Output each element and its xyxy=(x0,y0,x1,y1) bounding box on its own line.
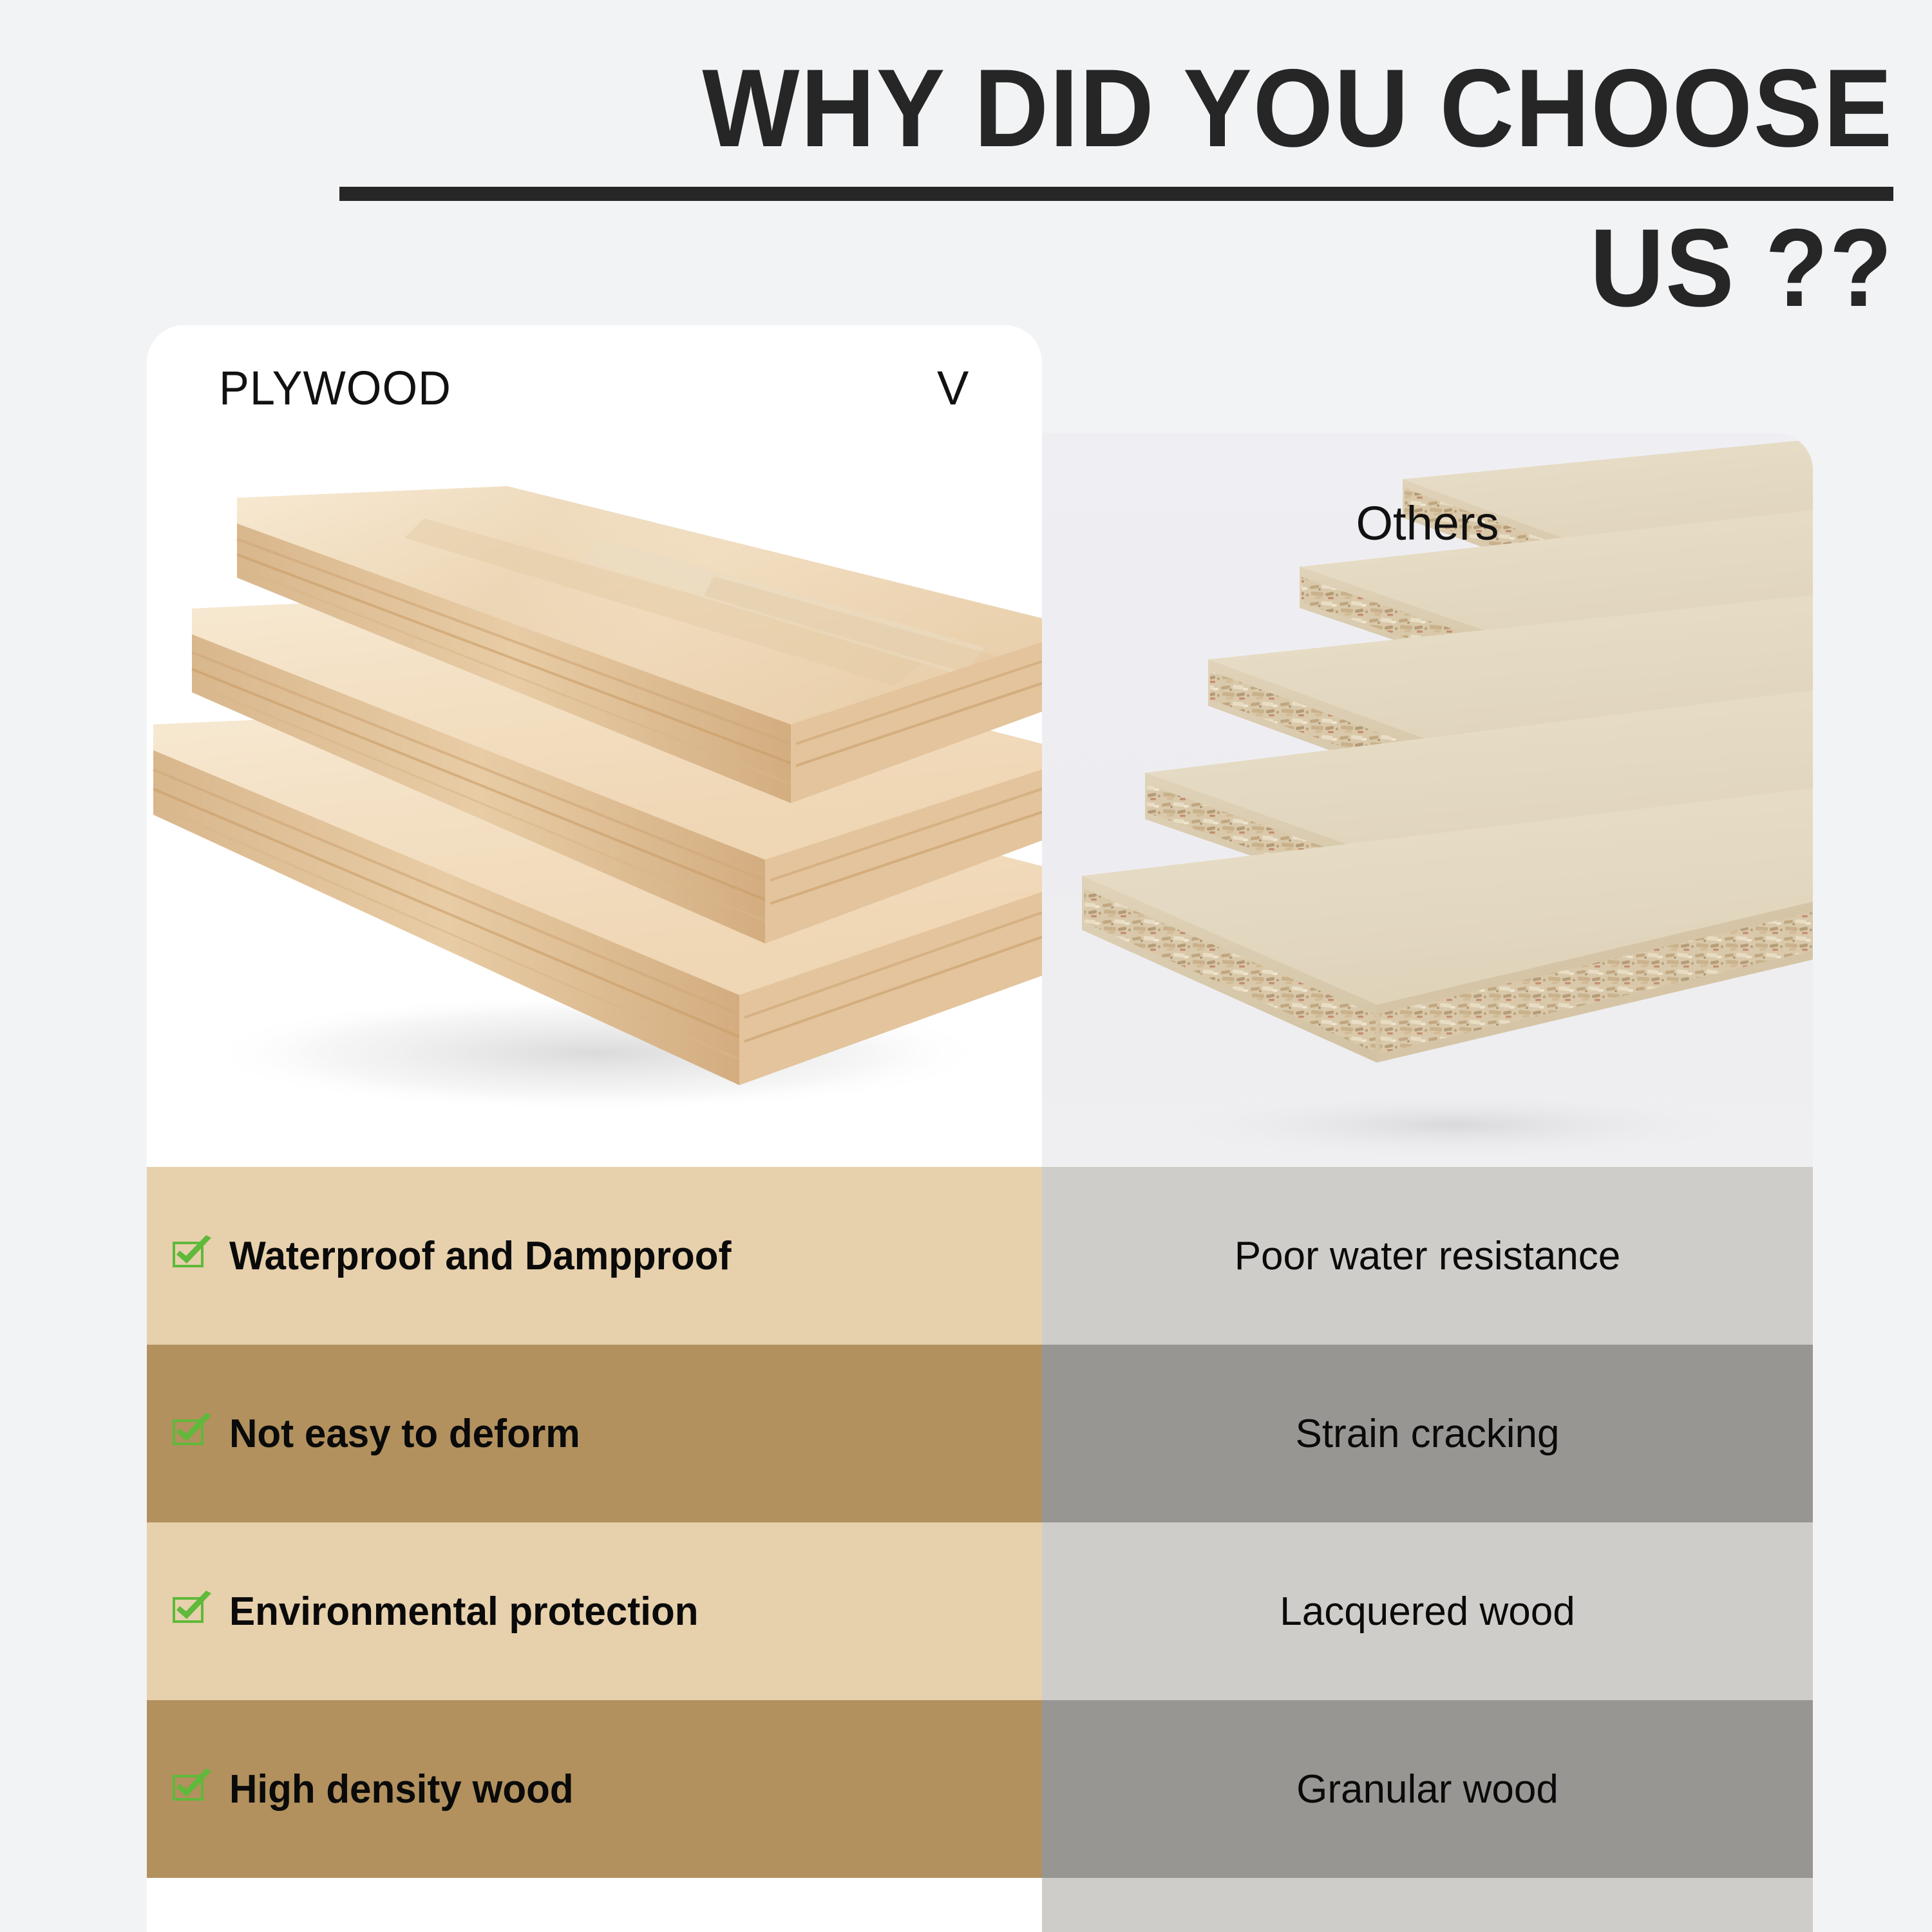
feature-cell: Environmental protection xyxy=(147,1522,1042,1700)
other-label: Granular wood xyxy=(1296,1766,1558,1812)
table-row: Environmental protection Lacquered wood xyxy=(147,1522,1813,1700)
feature-cell: High density wood xyxy=(147,1700,1042,1878)
comparison-table: Waterproof and Dampproof Poor water resi… xyxy=(147,1167,1813,1932)
plywood-panel xyxy=(147,325,1042,1167)
other-cell: Granular wood xyxy=(1042,1700,1813,1878)
other-label: Poor water resistance xyxy=(1235,1233,1621,1279)
column-label-plywood: PLYWOOD xyxy=(219,361,451,415)
feature-label: Environmental protection xyxy=(229,1589,698,1634)
check-box-icon xyxy=(171,1767,213,1808)
feature-label: High density wood xyxy=(229,1766,574,1812)
header-title-block: WHY DID YOU CHOOSE US ?? xyxy=(0,0,1932,325)
feature-cell: Waterproof and Dampproof xyxy=(147,1167,1042,1345)
feature-cell: Not easy to deform xyxy=(147,1345,1042,1522)
title-underline-rule xyxy=(339,187,1893,201)
versus-label: V xyxy=(937,361,969,415)
feature-label: Waterproof and Dampproof xyxy=(229,1233,732,1279)
footer-strip-left xyxy=(147,1878,1042,1932)
feature-label: Not easy to deform xyxy=(229,1411,580,1457)
other-label: Strain cracking xyxy=(1295,1411,1559,1457)
table-row: Waterproof and Dampproof Poor water resi… xyxy=(147,1167,1813,1345)
other-cell: Lacquered wood xyxy=(1042,1522,1813,1700)
check-box-icon xyxy=(171,1412,213,1453)
page-title-line-2: US ?? xyxy=(133,213,1893,323)
check-box-icon xyxy=(171,1589,213,1631)
footer-strip-right xyxy=(1042,1878,1813,1932)
table-row: Not easy to deform Strain cracking xyxy=(147,1345,1813,1522)
plywood-stack-image xyxy=(147,325,1042,1167)
other-label: Lacquered wood xyxy=(1280,1589,1575,1634)
other-cell: Strain cracking xyxy=(1042,1345,1813,1522)
other-cell: Poor water resistance xyxy=(1042,1167,1813,1345)
page-title-line-1: WHY DID YOU CHOOSE xyxy=(133,53,1893,164)
check-box-icon xyxy=(171,1234,213,1275)
column-label-others: Others xyxy=(1042,496,1813,551)
table-row: High density wood Granular wood xyxy=(147,1700,1813,1878)
